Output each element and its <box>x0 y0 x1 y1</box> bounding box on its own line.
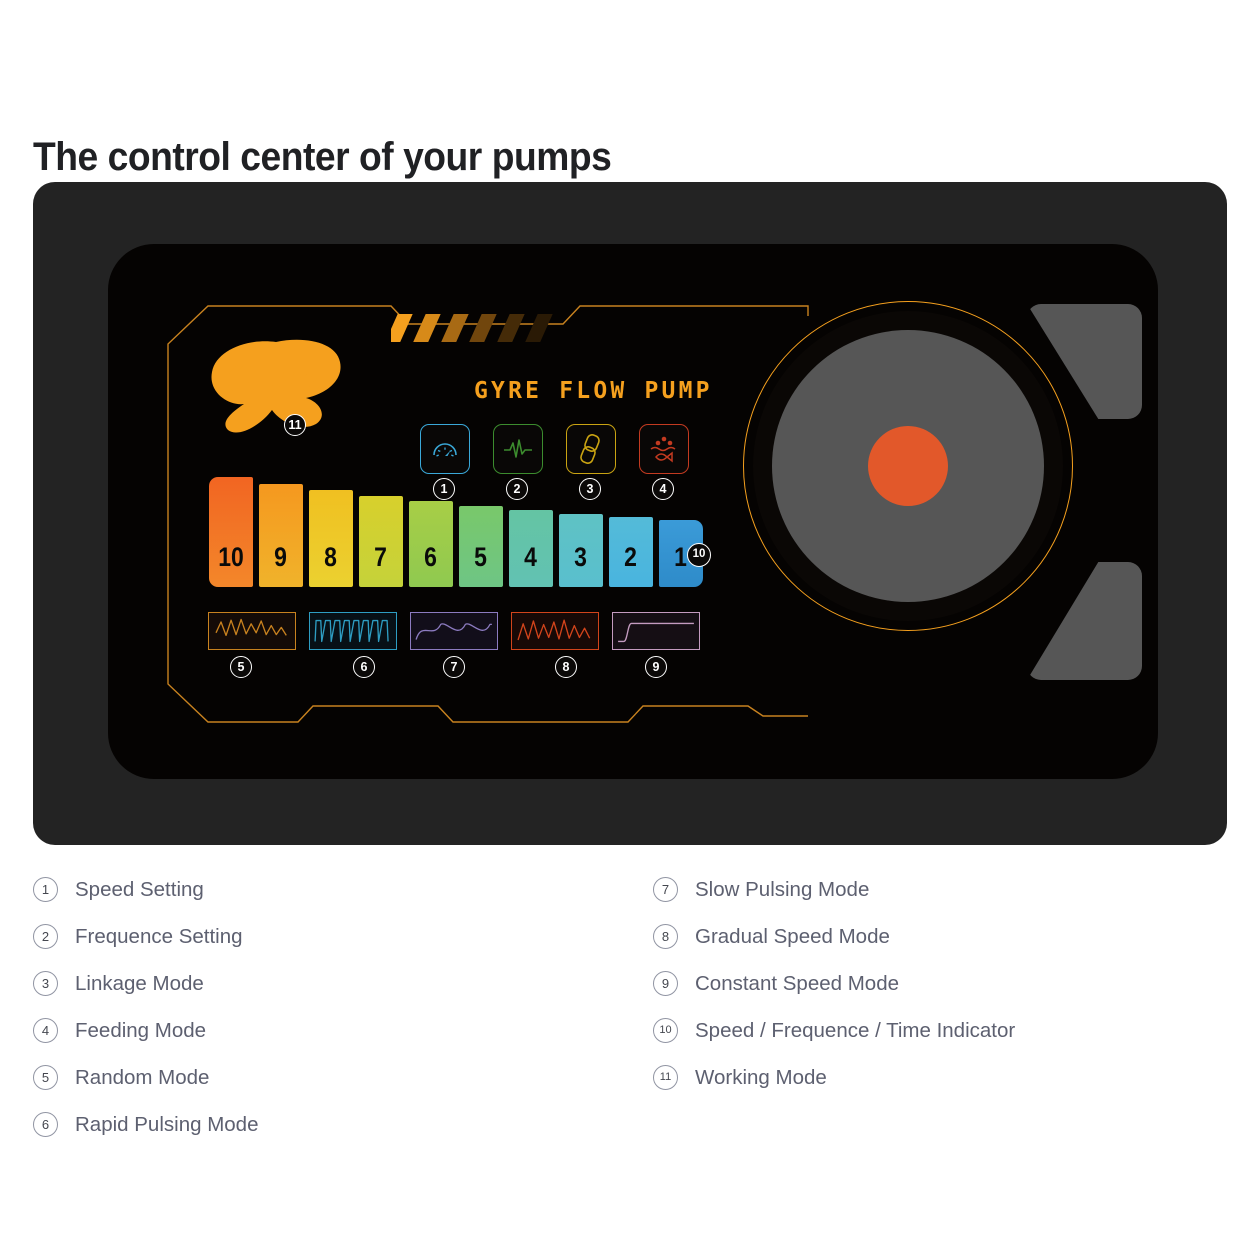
badge-8-label: 8 <box>555 656 577 678</box>
fish-feeding-icon[interactable] <box>639 424 689 474</box>
control-dial[interactable] <box>720 260 1150 760</box>
wave-cell-constant-speed-mode: 9 <box>612 612 700 650</box>
legend-label-4: Feeding Mode <box>75 1019 206 1043</box>
rapid-pulsing-mode-button[interactable] <box>309 612 397 650</box>
legend-badge-1: 1 <box>33 877 58 902</box>
constant-speed-mode-button[interactable] <box>612 612 700 650</box>
legend-label-6: Rapid Pulsing Mode <box>75 1113 258 1137</box>
speed-bar-label: 3 <box>575 544 588 587</box>
legend-label-9: Constant Speed Mode <box>695 972 899 996</box>
badge-7-label: 7 <box>443 656 465 678</box>
legend-item-3: 3Linkage Mode <box>33 960 258 1007</box>
wave-cell-slow-pulsing-mode: 7 <box>410 612 498 650</box>
speed-bar-10[interactable]: 10 <box>209 477 253 587</box>
legend-label-7: Slow Pulsing Mode <box>695 878 869 902</box>
legend-badge-3: 3 <box>33 971 58 996</box>
badge-5-label: 5 <box>230 656 252 678</box>
hazard-stripe-6 <box>522 314 556 342</box>
gradual-speed-mode-button[interactable] <box>511 612 599 650</box>
speed-bar-7[interactable]: 7 <box>359 496 403 587</box>
legend-item-10: 10Speed / Frequence / Time Indicator <box>653 1007 1015 1054</box>
mode-icon-cell-linkage-mode: 3 <box>566 424 614 474</box>
mode-icon-cell-speed-setting: 1 <box>420 424 468 474</box>
speed-bar-label: 9 <box>275 544 288 587</box>
hazard-stripe-2 <box>410 314 444 342</box>
badge-7: 7 <box>443 656 465 678</box>
random-mode-button[interactable] <box>208 612 296 650</box>
legend-item-9: 9Constant Speed Mode <box>653 960 1015 1007</box>
wave-cell-rapid-pulsing-mode: 6 <box>309 612 397 650</box>
speed-bar-label: 7 <box>375 544 388 587</box>
legend-badge-8: 8 <box>653 924 678 949</box>
legend-column-right: 7Slow Pulsing Mode8Gradual Speed Mode9Co… <box>653 866 1015 1101</box>
speed-bar-label: 2 <box>625 544 638 587</box>
legend-badge-5: 5 <box>33 1065 58 1090</box>
speed-bar-label: 8 <box>325 544 338 587</box>
legend-item-2: 2Frequence Setting <box>33 913 258 960</box>
badge-8: 8 <box>555 656 577 678</box>
brand-name: GYRE FLOW PUMP <box>474 378 713 404</box>
dial-wedge-bottom <box>1027 562 1142 680</box>
legend-item-6: 6Rapid Pulsing Mode <box>33 1101 258 1148</box>
badge-9-label: 9 <box>645 656 667 678</box>
hazard-stripe-5 <box>494 314 528 342</box>
legend-badge-10: 10 <box>653 1018 678 1043</box>
page-root: The control center of your pumps Gyre 11 <box>0 0 1259 1259</box>
hazard-stripe-decor <box>391 314 561 342</box>
speed-bar-8[interactable]: 8 <box>309 490 353 587</box>
mode-icon-cell-feeding-mode: 4 <box>639 424 687 474</box>
device-shell: Gyre 11 GYRE FLOW PUMP 1234 12345678910 … <box>33 182 1227 845</box>
legend-label-11: Working Mode <box>695 1066 827 1090</box>
legend-item-4: 4Feeding Mode <box>33 1007 258 1054</box>
speed-bar-label: 5 <box>475 544 488 587</box>
svg-text:Gyre: Gyre <box>227 356 326 401</box>
legend-badge-6: 6 <box>33 1112 58 1137</box>
badge-9: 9 <box>645 656 667 678</box>
speed-bar-2[interactable]: 2 <box>609 517 653 587</box>
badge-11-label: 11 <box>284 414 306 436</box>
legend-badge-11: 11 <box>653 1065 678 1090</box>
badge-indicator: 10 <box>687 543 711 567</box>
hazard-stripe-3 <box>438 314 472 342</box>
speed-bar-label: 1 <box>675 544 688 587</box>
legend-badge-9: 9 <box>653 971 678 996</box>
legend-item-8: 8Gradual Speed Mode <box>653 913 1015 960</box>
legend-label-8: Gradual Speed Mode <box>695 925 890 949</box>
badge-6: 6 <box>353 656 375 678</box>
speed-bar-label: 6 <box>425 544 438 587</box>
speed-bar-label: 10 <box>218 544 244 587</box>
legend-badge-7: 7 <box>653 877 678 902</box>
badge-6-label: 6 <box>353 656 375 678</box>
speed-bar-label: 4 <box>525 544 538 587</box>
mode-icon-cell-frequence-setting: 2 <box>493 424 541 474</box>
legend-label-3: Linkage Mode <box>75 972 204 996</box>
legend-badge-4: 4 <box>33 1018 58 1043</box>
speed-bar-4[interactable]: 4 <box>509 510 553 587</box>
speed-bar-3[interactable]: 3 <box>559 514 603 587</box>
wave-cell-random-mode: 5 <box>208 612 296 650</box>
legend-item-5: 5Random Mode <box>33 1054 258 1101</box>
badge-working-mode: 11 <box>284 414 306 436</box>
speedometer-icon[interactable] <box>420 424 470 474</box>
speed-bar-9[interactable]: 9 <box>259 484 303 587</box>
legend-item-7: 7Slow Pulsing Mode <box>653 866 1015 913</box>
legend-badge-2: 2 <box>33 924 58 949</box>
waveform-icon[interactable] <box>493 424 543 474</box>
device-control-panel: Gyre 11 GYRE FLOW PUMP 1234 12345678910 … <box>108 244 1158 779</box>
speed-bar-5[interactable]: 5 <box>459 506 503 587</box>
page-title: The control center of your pumps <box>33 135 611 180</box>
legend-column-left: 1Speed Setting2Frequence Setting3Linkage… <box>33 866 258 1148</box>
badge-5: 5 <box>230 656 252 678</box>
slow-pulsing-mode-button[interactable] <box>410 612 498 650</box>
mode-icon-row: 1234 <box>420 424 687 474</box>
dial-center-button[interactable] <box>868 426 948 506</box>
gyre-logo: Gyre 11 <box>198 336 358 436</box>
legend-item-11: 11Working Mode <box>653 1054 1015 1101</box>
speed-bar-6[interactable]: 6 <box>409 501 453 587</box>
hazard-stripe-4 <box>466 314 500 342</box>
legend-item-1: 1Speed Setting <box>33 866 258 913</box>
chain-link-icon[interactable] <box>566 424 616 474</box>
hazard-stripe-1 <box>391 314 415 342</box>
wave-mode-row: 56789 <box>208 612 700 650</box>
speed-bar-graph: 12345678910 10 <box>209 477 709 587</box>
legend-label-1: Speed Setting <box>75 878 204 902</box>
legend-label-10: Speed / Frequence / Time Indicator <box>695 1019 1015 1043</box>
badge-10-label: 10 <box>687 543 711 567</box>
legend-label-5: Random Mode <box>75 1066 209 1090</box>
wave-cell-gradual-speed-mode: 8 <box>511 612 599 650</box>
legend-label-2: Frequence Setting <box>75 925 243 949</box>
